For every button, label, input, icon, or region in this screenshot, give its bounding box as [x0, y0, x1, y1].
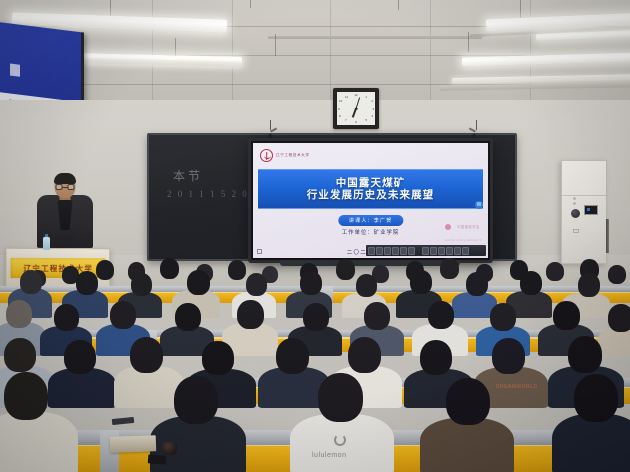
student-head: [130, 337, 163, 373]
monitor-logo: [10, 63, 20, 76]
phone-on-desk: [148, 454, 167, 464]
wall-clock: 12 3 6 9 11 1 2 4 5 7 8 10: [333, 88, 379, 129]
student-head: [492, 338, 525, 374]
student-head: [110, 301, 136, 329]
slide-badge-icon: W: [475, 201, 483, 209]
chalk-text-line2: 2 0 1 1 1 5 2 0: [167, 189, 249, 199]
student-head: [318, 373, 363, 422]
student-head: [174, 376, 218, 424]
watermark-subtext: CHINA COAL SOCIETY: [445, 238, 482, 242]
projection-screen[interactable]: 辽宁工程技术大学 中国露天煤矿 行业发展历史及未来展望 讲课人：李广贺 工作单位…: [248, 138, 493, 263]
student-head: [553, 301, 580, 330]
chalk-text-line1: 本节: [173, 167, 203, 184]
student-head: [446, 378, 490, 425]
slide-watermark: 中国煤炭学会 CHINA COAL SOCIETY: [445, 218, 482, 242]
student-head: [246, 273, 267, 296]
student-head: [131, 273, 152, 296]
student-head: [578, 273, 600, 297]
student-head: [64, 340, 96, 374]
book-on-desk: [110, 435, 157, 453]
cabinet-knob[interactable]: [571, 209, 580, 218]
student-head: [568, 336, 602, 373]
student-head: [608, 304, 630, 332]
slide-title-banner: 中国露天煤矿 行业发展历史及未来展望: [258, 169, 483, 209]
university-crest-icon: [260, 149, 273, 162]
cup-on-desk: [162, 442, 177, 455]
cabinet-slot: [573, 229, 579, 233]
hoodie-brand-logo: lululemon: [312, 452, 346, 459]
student-body: [0, 412, 78, 472]
presentation-slide: 辽宁工程技术大学 中国露天煤矿 行业发展历史及未来展望 讲课人：李广贺 工作单位…: [253, 143, 488, 258]
student-head: [356, 274, 377, 297]
student-head: [187, 270, 210, 295]
lecturer-hair: [54, 173, 76, 184]
audience-row-front: lululemon: [0, 370, 630, 472]
university-logo-text: 辽宁工程技术大学: [276, 153, 310, 158]
student-body: [552, 414, 630, 472]
student-head: [54, 304, 79, 331]
student-head: [410, 270, 432, 294]
student-head: [428, 301, 454, 329]
student-head: [300, 271, 322, 295]
student-head: [574, 374, 618, 422]
cabinet-display-panel[interactable]: [584, 205, 598, 215]
student-head: [4, 372, 48, 420]
lecture-hall-photo: 信息发布 — — — 12 3 6 9 11 1 2 4 5 7 8 10: [0, 0, 630, 472]
student-head: [520, 271, 542, 295]
student-head: [6, 300, 32, 328]
student-head: [364, 302, 390, 330]
student-head: [175, 303, 201, 331]
watermark-dot-icon: [445, 224, 451, 230]
slide-affiliation: 工作单位：矿业学院: [342, 228, 400, 236]
student-head: [4, 338, 36, 372]
student-body: [420, 418, 514, 472]
student-head: [303, 303, 329, 331]
student-head: [237, 300, 264, 329]
student-head: [466, 272, 488, 296]
slide-title-line2: 行业发展历史及未来展望: [307, 190, 435, 201]
university-logo: 辽宁工程技术大学: [260, 149, 310, 162]
student-head: [490, 303, 516, 331]
watermark-text: 中国煤炭学会: [457, 224, 480, 229]
student-head: [76, 271, 98, 295]
student-head: [20, 270, 42, 294]
slide-presenter: 讲课人：李广贺: [338, 215, 403, 226]
slide-title-line1: 中国露天煤矿: [336, 178, 406, 189]
lecturer-glasses-icon: [56, 184, 75, 190]
student-head: [348, 337, 381, 373]
student-head: [276, 338, 309, 374]
hoodie-logo-icon: [334, 434, 346, 446]
